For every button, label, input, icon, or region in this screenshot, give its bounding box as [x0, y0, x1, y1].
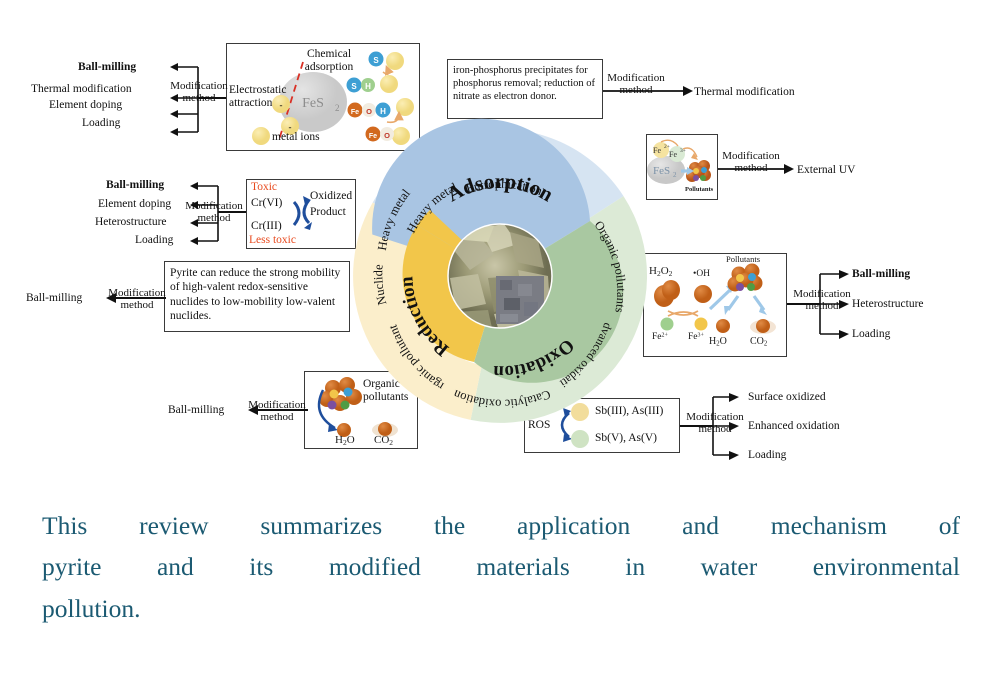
pollutants-label-fenton: Pollutants	[726, 254, 760, 264]
output-surface-oxidized: Surface oxidized	[748, 391, 826, 403]
svg-text:2: 2	[335, 103, 340, 113]
adsorption-modification-label: Modification method	[170, 80, 228, 105]
output-loading-fenton: Loading	[852, 328, 890, 340]
modification-method-text: Modification method	[108, 287, 165, 311]
caption-line-3: pollution.	[42, 588, 960, 629]
modification-method-text: Modification method	[793, 288, 850, 312]
less-toxic-label: Less toxic	[249, 234, 296, 246]
cr3-label: Cr(III)	[251, 220, 282, 232]
toxic-label: Toxic	[251, 181, 277, 193]
h2o-label-left: H2O	[335, 434, 355, 447]
cr6-label: Cr(VI)	[251, 197, 282, 209]
output-ball-milling-organic: Ball-milling	[168, 404, 224, 416]
ros-modification-label: Modification method	[686, 411, 744, 436]
output-external-uv: External UV	[797, 164, 855, 176]
modification-method-text: Modification method	[722, 150, 779, 174]
chromium-modification-label: Modification method	[185, 200, 243, 225]
photocatalysis-box: FeS 2 Fe 2+ Fe 3+ Pollutants	[646, 134, 718, 200]
output-enhanced-oxidation: Enhanced oxidation	[748, 420, 840, 432]
chemical-adsorption-label: Chemical adsorption	[289, 48, 369, 74]
output-thermal-modification-eutro: Thermal modification	[694, 86, 795, 98]
eutrophication-modification-label: Modification method	[607, 72, 665, 97]
eutrophication-textbox: iron-phosphorus precipitates for phospho…	[447, 59, 603, 119]
svg-text:O: O	[366, 107, 372, 116]
central-wheel-diagram: Adsorption Oxidation Reduction Eutrophic…	[352, 128, 648, 424]
output-loading-adsorption: Loading	[82, 117, 120, 129]
modification-method-text: Modification method	[248, 399, 305, 423]
nuclide-text: Pyrite can reduce the strong mobility of…	[165, 262, 349, 328]
output-element-doping-adsorption: Element doping	[49, 99, 122, 111]
svg-text:Fe: Fe	[351, 109, 359, 116]
svg-text:Fe: Fe	[669, 150, 677, 159]
svg-text:Fe: Fe	[653, 146, 661, 155]
modification-method-text: Modification method	[686, 411, 743, 435]
oxidized-label: Oxidized	[310, 190, 352, 202]
electrostatic-attraction-label: Electrostatic attraction	[229, 84, 291, 110]
output-ball-milling-nuclide: Ball-milling	[26, 292, 82, 304]
h2o2-label: H2O2	[649, 265, 672, 278]
caption-line-1: This review summarizes the application a…	[42, 505, 960, 546]
svg-text:H: H	[365, 82, 371, 91]
co2-label-left: CO2	[374, 434, 393, 447]
metal-ions-label: metal ions	[272, 131, 320, 143]
co2-label-fenton: CO2	[750, 336, 767, 348]
modification-method-text: Modification method	[185, 200, 242, 224]
output-ball-milling-fenton: Ball-milling	[852, 268, 910, 280]
output-heterostructure-cr: Heterostructure	[95, 216, 167, 228]
nuclide-modification-label: Modification method	[108, 287, 166, 312]
caption-block: This review summarizes the application a…	[42, 505, 960, 629]
oh-radical-label: •OH	[693, 269, 710, 279]
output-thermal-modification-adsorption: Thermal modification	[31, 83, 132, 95]
nuclide-textbox: Pyrite can reduce the strong mobility of…	[164, 261, 350, 332]
photocatalysis-modification-label: Modification method	[722, 150, 780, 175]
graphical-abstract-diagram: FeS 2 - - S S H Fe O H Fe O	[0, 0, 1002, 480]
caption-line-2: pyrite and its modified materials in wat…	[42, 546, 960, 587]
modification-method-text: Modification method	[170, 80, 227, 104]
h2o-label-fenton: H2O	[709, 336, 727, 348]
chromium-reduction-box: Toxic Cr(VI) Cr(III) Less toxic Oxidized…	[246, 179, 356, 249]
svg-text:H: H	[380, 107, 386, 116]
svg-text:2: 2	[673, 171, 677, 179]
output-loading-cr: Loading	[135, 234, 173, 246]
output-loading-ros: Loading	[748, 449, 786, 461]
output-element-doping-cr: Element doping	[98, 198, 171, 210]
svg-text:FeS: FeS	[302, 96, 324, 111]
output-heterostructure-fenton: Heterostructure	[852, 298, 924, 310]
fe2-label-fenton: Fe2+	[652, 332, 668, 342]
eutrophication-text: iron-phosphorus precipitates for phospho…	[448, 60, 602, 108]
modification-method-text: Modification method	[607, 72, 664, 96]
oxidized-species-label: Sb(V), As(V)	[595, 432, 657, 444]
output-ball-milling-cr: Ball-milling	[106, 179, 164, 191]
fenton-box: H2O2 •OH Pollutants Fe2+ Fe3+ H2O CO2	[643, 253, 787, 357]
svg-text:S: S	[373, 56, 379, 65]
fenton-modification-label: Modification method	[793, 288, 851, 313]
fe3-label-fenton: Fe3+	[688, 332, 704, 342]
pollutants-label-uv: Pollutants	[685, 186, 713, 193]
svg-text:FeS: FeS	[653, 165, 670, 177]
organic-modification-label: Modification method	[248, 399, 306, 424]
product-label: Product	[310, 206, 346, 218]
output-ball-milling-adsorption: Ball-milling	[78, 61, 136, 73]
svg-text:S: S	[351, 82, 357, 91]
